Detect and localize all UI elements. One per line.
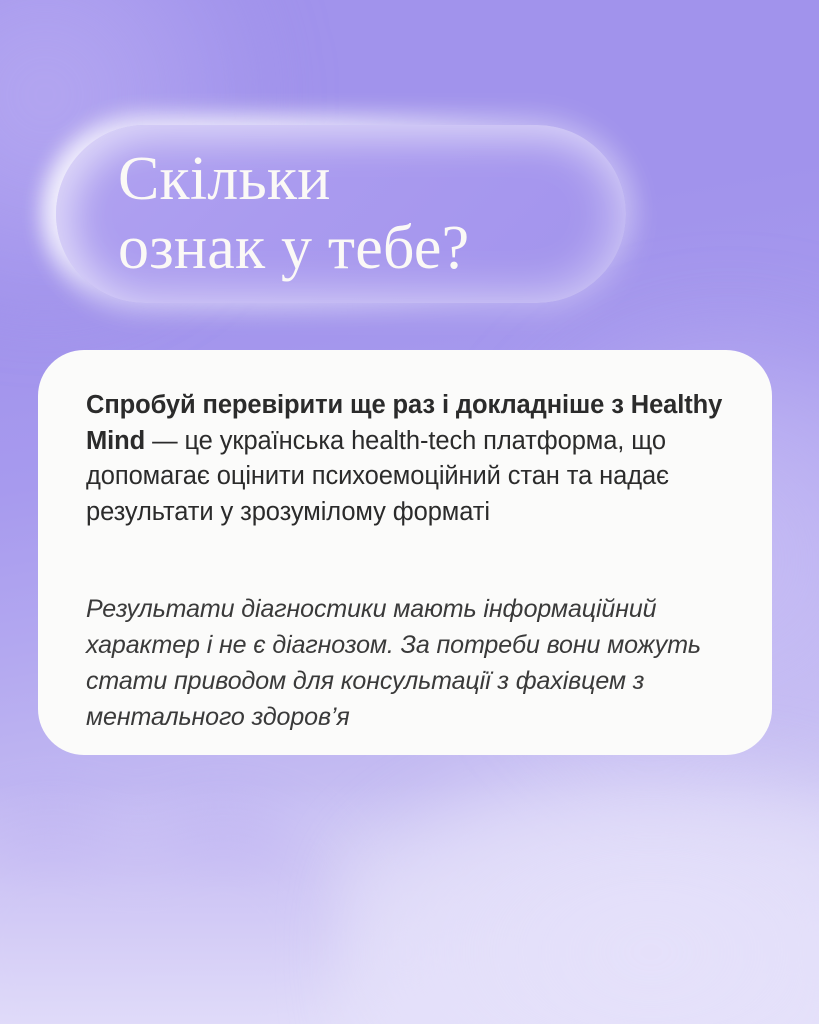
poster-canvas: Скільки ознак у тебе? Спробуй перевірити… [0,0,819,1024]
info-card: Спробуй перевірити ще раз і докладніше з… [38,350,772,755]
title-pill: Скільки ознак у тебе? [56,125,626,303]
card-body-text: Спробуй перевірити ще раз і докладніше з… [86,388,724,531]
card-body-rest: — це українська health-tech платформа, щ… [86,427,669,526]
page-title: Скільки ознак у тебе? [56,145,469,284]
background-bottom-right-glow [339,754,819,1024]
card-disclaimer-text: Результати діагностики мають інформаційн… [86,591,724,735]
background-heart-shape [0,818,368,1024]
